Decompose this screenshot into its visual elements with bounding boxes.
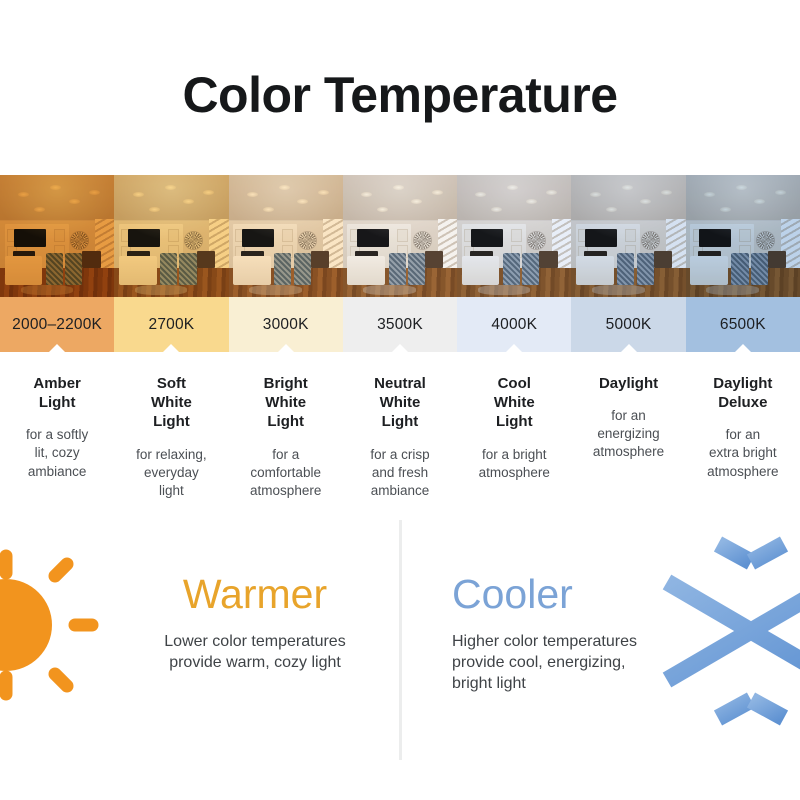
light-type-description-line: for a [236,446,336,464]
light-type-description-line: atmosphere [693,463,793,481]
light-type-name: CoolWhiteLight [464,374,564,432]
light-type-description-line: energizing [578,425,678,443]
light-type-description: for anextra brightatmosphere [693,426,793,480]
light-type-description-line: atmosphere [578,443,678,461]
temperature-swatch[interactable]: 2700K [114,297,228,352]
temperature-column: DaylightDeluxefor anextra brightatmosphe… [686,374,800,500]
swatch-pointer-notch [734,344,752,353]
light-type-name-line: Amber [7,374,107,393]
swatch-pointer-notch [391,344,409,353]
room-photo [457,175,571,297]
temperature-swatch[interactable]: 4000K [457,297,571,352]
light-type-name-line: Light [236,412,336,431]
light-type-name-line: Deluxe [693,393,793,412]
temperature-column: Daylightfor anenergizingatmosphere [571,374,685,500]
light-type-description-line: and fresh [350,464,450,482]
temperature-value: 2000–2200K [12,316,102,334]
light-type-name: AmberLight [7,374,107,412]
warmer-cooler-section: Warmer Lower color temperaturesprovide w… [0,512,800,800]
temperature-column: AmberLightfor a softlylit, cozyambiance [0,374,114,500]
light-type-name-line: Daylight [578,374,678,393]
swatch-pointer-notch [162,344,180,353]
room-photo [229,175,343,297]
light-type-description-line: atmosphere [464,464,564,482]
light-type-name-line: Bright [236,374,336,393]
light-type-name: NeutralWhiteLight [350,374,450,432]
light-type-description-line: for a softly [7,426,107,444]
light-type-description: for acomfortableatmosphere [236,446,336,500]
light-type-description-line: atmosphere [236,482,336,500]
light-type-description-line: everyday [121,464,221,482]
room-photo [686,175,800,297]
header: Color Temperature [0,0,800,175]
light-type-name-line: Light [7,393,107,412]
warmer-text: Lower color temperaturesprovide warm, co… [130,631,380,673]
warmer-text-line: provide warm, cozy light [130,652,380,673]
light-type-name-line: Neutral [350,374,450,393]
light-type-description-line: ambiance [7,463,107,481]
light-type-description-line: extra bright [693,444,793,462]
light-type-name-line: White [121,393,221,412]
room-photo-strip [0,175,800,297]
light-type-description-line: comfortable [236,464,336,482]
light-type-name: SoftWhiteLight [121,374,221,432]
light-type-description-line: for a bright [464,446,564,464]
page-title: Color Temperature [182,56,617,120]
light-type-description-line: lit, cozy [7,444,107,462]
light-type-name-line: Light [464,412,564,431]
temperature-swatch[interactable]: 2000–2200K [0,297,114,352]
light-type-name-line: Cool [464,374,564,393]
temperature-value: 3500K [377,316,423,334]
light-type-name-line: Soft [121,374,221,393]
temperature-column: SoftWhiteLightfor relaxing,everydaylight [114,374,228,500]
light-type-description: for a brightatmosphere [464,446,564,482]
temperature-swatch[interactable]: 3500K [343,297,457,352]
temperature-swatch[interactable]: 6500K [686,297,800,352]
light-type-description-line: for relaxing, [121,446,221,464]
temperature-value: 5000K [606,316,652,334]
swatch-pointer-notch [48,344,66,353]
temperature-description-row: AmberLightfor a softlylit, cozyambianceS… [0,352,800,500]
sun-icon [0,540,118,710]
light-type-description-line: ambiance [350,482,450,500]
light-type-name-line: White [464,393,564,412]
light-type-description-line: for an [578,407,678,425]
room-photo [0,175,114,297]
light-type-description-line: for an [693,426,793,444]
room-photo [571,175,685,297]
temperature-column: BrightWhiteLightfor acomfortableatmosphe… [229,374,343,500]
light-type-description: for a crispand freshambiance [350,446,450,500]
light-type-name: DaylightDeluxe [693,374,793,412]
warmer-text-line: Lower color temperatures [130,631,380,652]
temperature-value: 4000K [491,316,537,334]
light-type-name: Daylight [578,374,678,393]
light-type-description-line: light [121,482,221,500]
temperature-value: 2700K [149,316,195,334]
light-type-description: for anenergizingatmosphere [578,407,678,461]
room-photo [343,175,457,297]
temperature-swatch[interactable]: 5000K [571,297,685,352]
warmer-title: Warmer [130,574,380,615]
swatch-pointer-notch [620,344,638,353]
light-type-description: for a softlylit, cozyambiance [7,426,107,480]
temperature-swatch[interactable]: 3000K [229,297,343,352]
snowflake-icon [656,526,800,736]
light-type-description-line: for a crisp [350,446,450,464]
temperature-column: CoolWhiteLightfor a brightatmosphere [457,374,571,500]
room-photo [114,175,228,297]
swatch-pointer-notch [277,344,295,353]
light-type-name: BrightWhiteLight [236,374,336,432]
light-type-name-line: Daylight [693,374,793,393]
section-divider [399,520,402,760]
light-type-description: for relaxing,everydaylight [121,446,221,500]
temperature-swatch-bar: 2000–2200K2700K3000K3500K4000K5000K6500K [0,297,800,352]
temperature-value: 6500K [720,316,766,334]
temperature-value: 3000K [263,316,309,334]
light-type-name-line: White [236,393,336,412]
temperature-column: NeutralWhiteLightfor a crispand freshamb… [343,374,457,500]
warmer-panel: Warmer Lower color temperaturesprovide w… [130,574,380,673]
light-type-name-line: White [350,393,450,412]
light-type-name-line: Light [350,412,450,431]
light-type-name-line: Light [121,412,221,431]
swatch-pointer-notch [505,344,523,353]
